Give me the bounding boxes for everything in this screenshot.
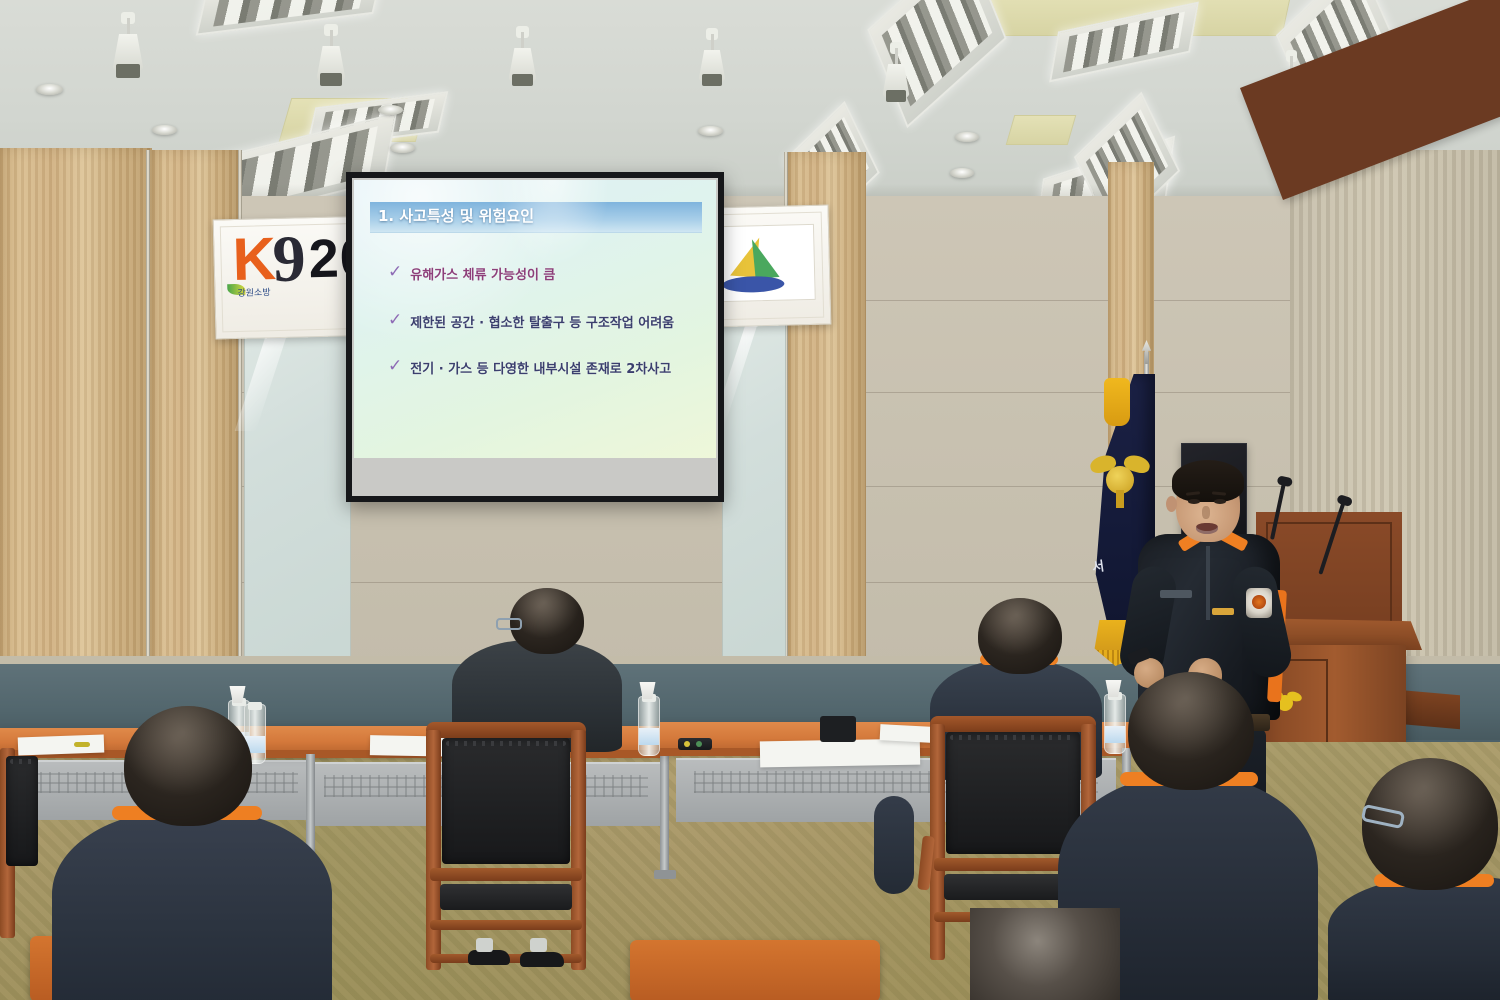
spot-light <box>316 30 346 88</box>
conference-room-photo: K 9 강원소방 201 회 1. 사고특성 및 위험요인 ✓ 유해가스 체류 … <box>0 0 1500 1000</box>
check-icon: ✓ <box>388 263 402 280</box>
sock <box>530 938 547 952</box>
recessed-downlight <box>378 105 403 115</box>
acoustic-panel <box>1006 115 1077 145</box>
attendee-head <box>978 598 1062 674</box>
attendee-bottom-center <box>940 908 1170 1000</box>
attendee-torso <box>52 810 332 1000</box>
recessed-downlight <box>390 143 415 153</box>
document-papers <box>760 739 920 768</box>
attendee-with-glasses <box>1328 758 1500 1000</box>
slide-bullet: ✓ 전기 · 가스 등 다영한 내부시설 존재로 2차사고 <box>388 358 671 377</box>
recessed-downlight <box>36 84 63 95</box>
attendee-foreground-left <box>52 706 332 1000</box>
slide-bullet: ✓ 유해가스 체류 가능성이 큼 <box>388 264 555 283</box>
metal-trim <box>146 150 150 670</box>
spot-light <box>112 18 144 80</box>
screen-surface: 1. 사고특성 및 위험요인 ✓ 유해가스 체류 가능성이 큼 ✓ 제한된 공간… <box>352 178 718 496</box>
uniform-zipper <box>1206 546 1210 620</box>
glasses-icon <box>496 618 522 630</box>
voice-recorder <box>678 738 712 750</box>
flag-character: 서 <box>1091 555 1105 575</box>
recessed-downlight <box>955 132 979 142</box>
screen-glare <box>499 180 608 263</box>
slide-bullet-text: 유해가스 체류 가능성이 큼 <box>410 264 555 283</box>
spot-light <box>882 48 910 104</box>
foreground-chair <box>630 940 880 1000</box>
wooden-chair <box>0 740 42 940</box>
presenter-hair <box>1172 460 1244 502</box>
ceiling-light-troffer <box>196 0 384 36</box>
slide-bullet: ✓ 제한된 공간 · 협소한 탈출구 등 구조작업 어려움 <box>388 312 674 331</box>
attendee-arm <box>874 796 914 894</box>
slide-bullet-text: 제한된 공간 · 협소한 탈출구 등 구조작업 어려움 <box>410 312 674 331</box>
attendee-head <box>124 706 252 826</box>
logo-digit-9: 9 <box>272 226 307 293</box>
water-bottle <box>638 696 660 756</box>
table-foot <box>654 870 676 879</box>
presenter-ear <box>1166 496 1177 512</box>
attendee-head <box>970 908 1120 1000</box>
presenter-eye <box>1214 499 1226 504</box>
sock <box>476 938 493 952</box>
presenter-mouth <box>1196 523 1218 534</box>
recessed-downlight <box>152 125 177 135</box>
shoe <box>520 952 564 967</box>
presenter-eye <box>1188 499 1200 504</box>
projected-slide: 1. 사고특성 및 위험요인 ✓ 유해가스 체류 가능성이 큼 ✓ 제한된 공간… <box>354 180 716 458</box>
spot-light <box>698 34 726 88</box>
presenter-nose <box>1202 506 1210 519</box>
table-leg <box>660 752 669 872</box>
recessed-downlight <box>950 168 974 178</box>
slide-bullet-text: 전기 · 가스 등 다영한 내부시설 존재로 2차사고 <box>410 358 671 377</box>
shoe <box>468 950 510 965</box>
spot-light <box>508 32 537 88</box>
uniform-name-tag <box>1160 590 1192 598</box>
wood-wall-panel-left <box>0 148 152 668</box>
logo-subtitle: 강원소방 <box>237 285 270 299</box>
projection-screen: 1. 사고특성 및 위험요인 ✓ 유해가스 체류 가능성이 큼 ✓ 제한된 공간… <box>346 172 724 502</box>
recessed-downlight <box>698 126 723 136</box>
logo-letter-k: K <box>232 229 277 290</box>
frosted-glass-panel-left <box>244 296 351 670</box>
check-icon: ✓ <box>388 311 402 328</box>
fire-service-shoulder-patch-icon <box>1246 588 1272 618</box>
flag-tassel <box>1104 378 1130 426</box>
device-stand <box>820 716 856 742</box>
attendee-torso <box>1328 876 1500 1000</box>
wooden-chair <box>426 722 586 972</box>
uniform-chest-tag <box>1212 608 1234 615</box>
frosted-glass-panel-right <box>722 300 786 670</box>
attendee-head <box>1128 672 1254 790</box>
check-icon: ✓ <box>388 357 402 374</box>
